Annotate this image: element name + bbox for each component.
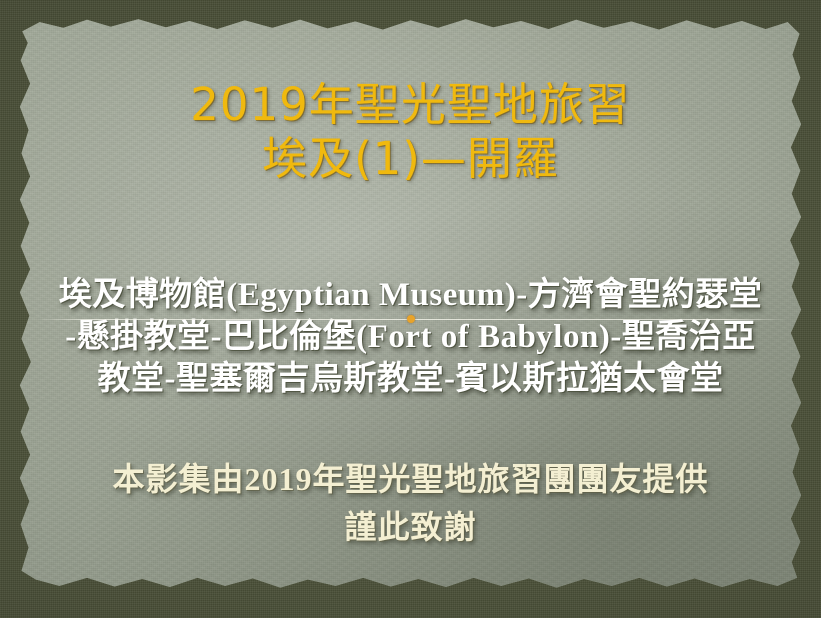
- presentation-slide: 2019年聖光聖地旅習 埃及(1)—開羅 埃及博物館(Egyptian Muse…: [0, 0, 821, 618]
- title-line-1: 2019年聖光聖地旅習: [0, 78, 821, 132]
- itinerary-line-1: 埃及博物館(Egyptian Museum)-方濟會聖約瑟堂: [0, 274, 821, 316]
- decorative-divider: [34, 318, 787, 321]
- credit-line-1: 本影集由2019年聖光聖地旅習團團友提供: [0, 455, 821, 503]
- credit-text: 本影集由2019年聖光聖地旅習團團友提供 謹此致謝: [0, 455, 821, 551]
- slide-content: 2019年聖光聖地旅習 埃及(1)—開羅 埃及博物館(Egyptian Muse…: [0, 0, 821, 618]
- divider-dot-icon: [407, 315, 415, 323]
- credit-line-2: 謹此致謝: [0, 503, 821, 551]
- title-line-2: 埃及(1)—開羅: [0, 132, 821, 186]
- slide-title: 2019年聖光聖地旅習 埃及(1)—開羅: [0, 78, 821, 186]
- itinerary-text: 埃及博物館(Egyptian Museum)-方濟會聖約瑟堂 -懸掛教堂-巴比倫…: [0, 274, 821, 400]
- itinerary-line-3: 教堂-聖塞爾吉烏斯教堂-賓以斯拉猶太會堂: [0, 358, 821, 400]
